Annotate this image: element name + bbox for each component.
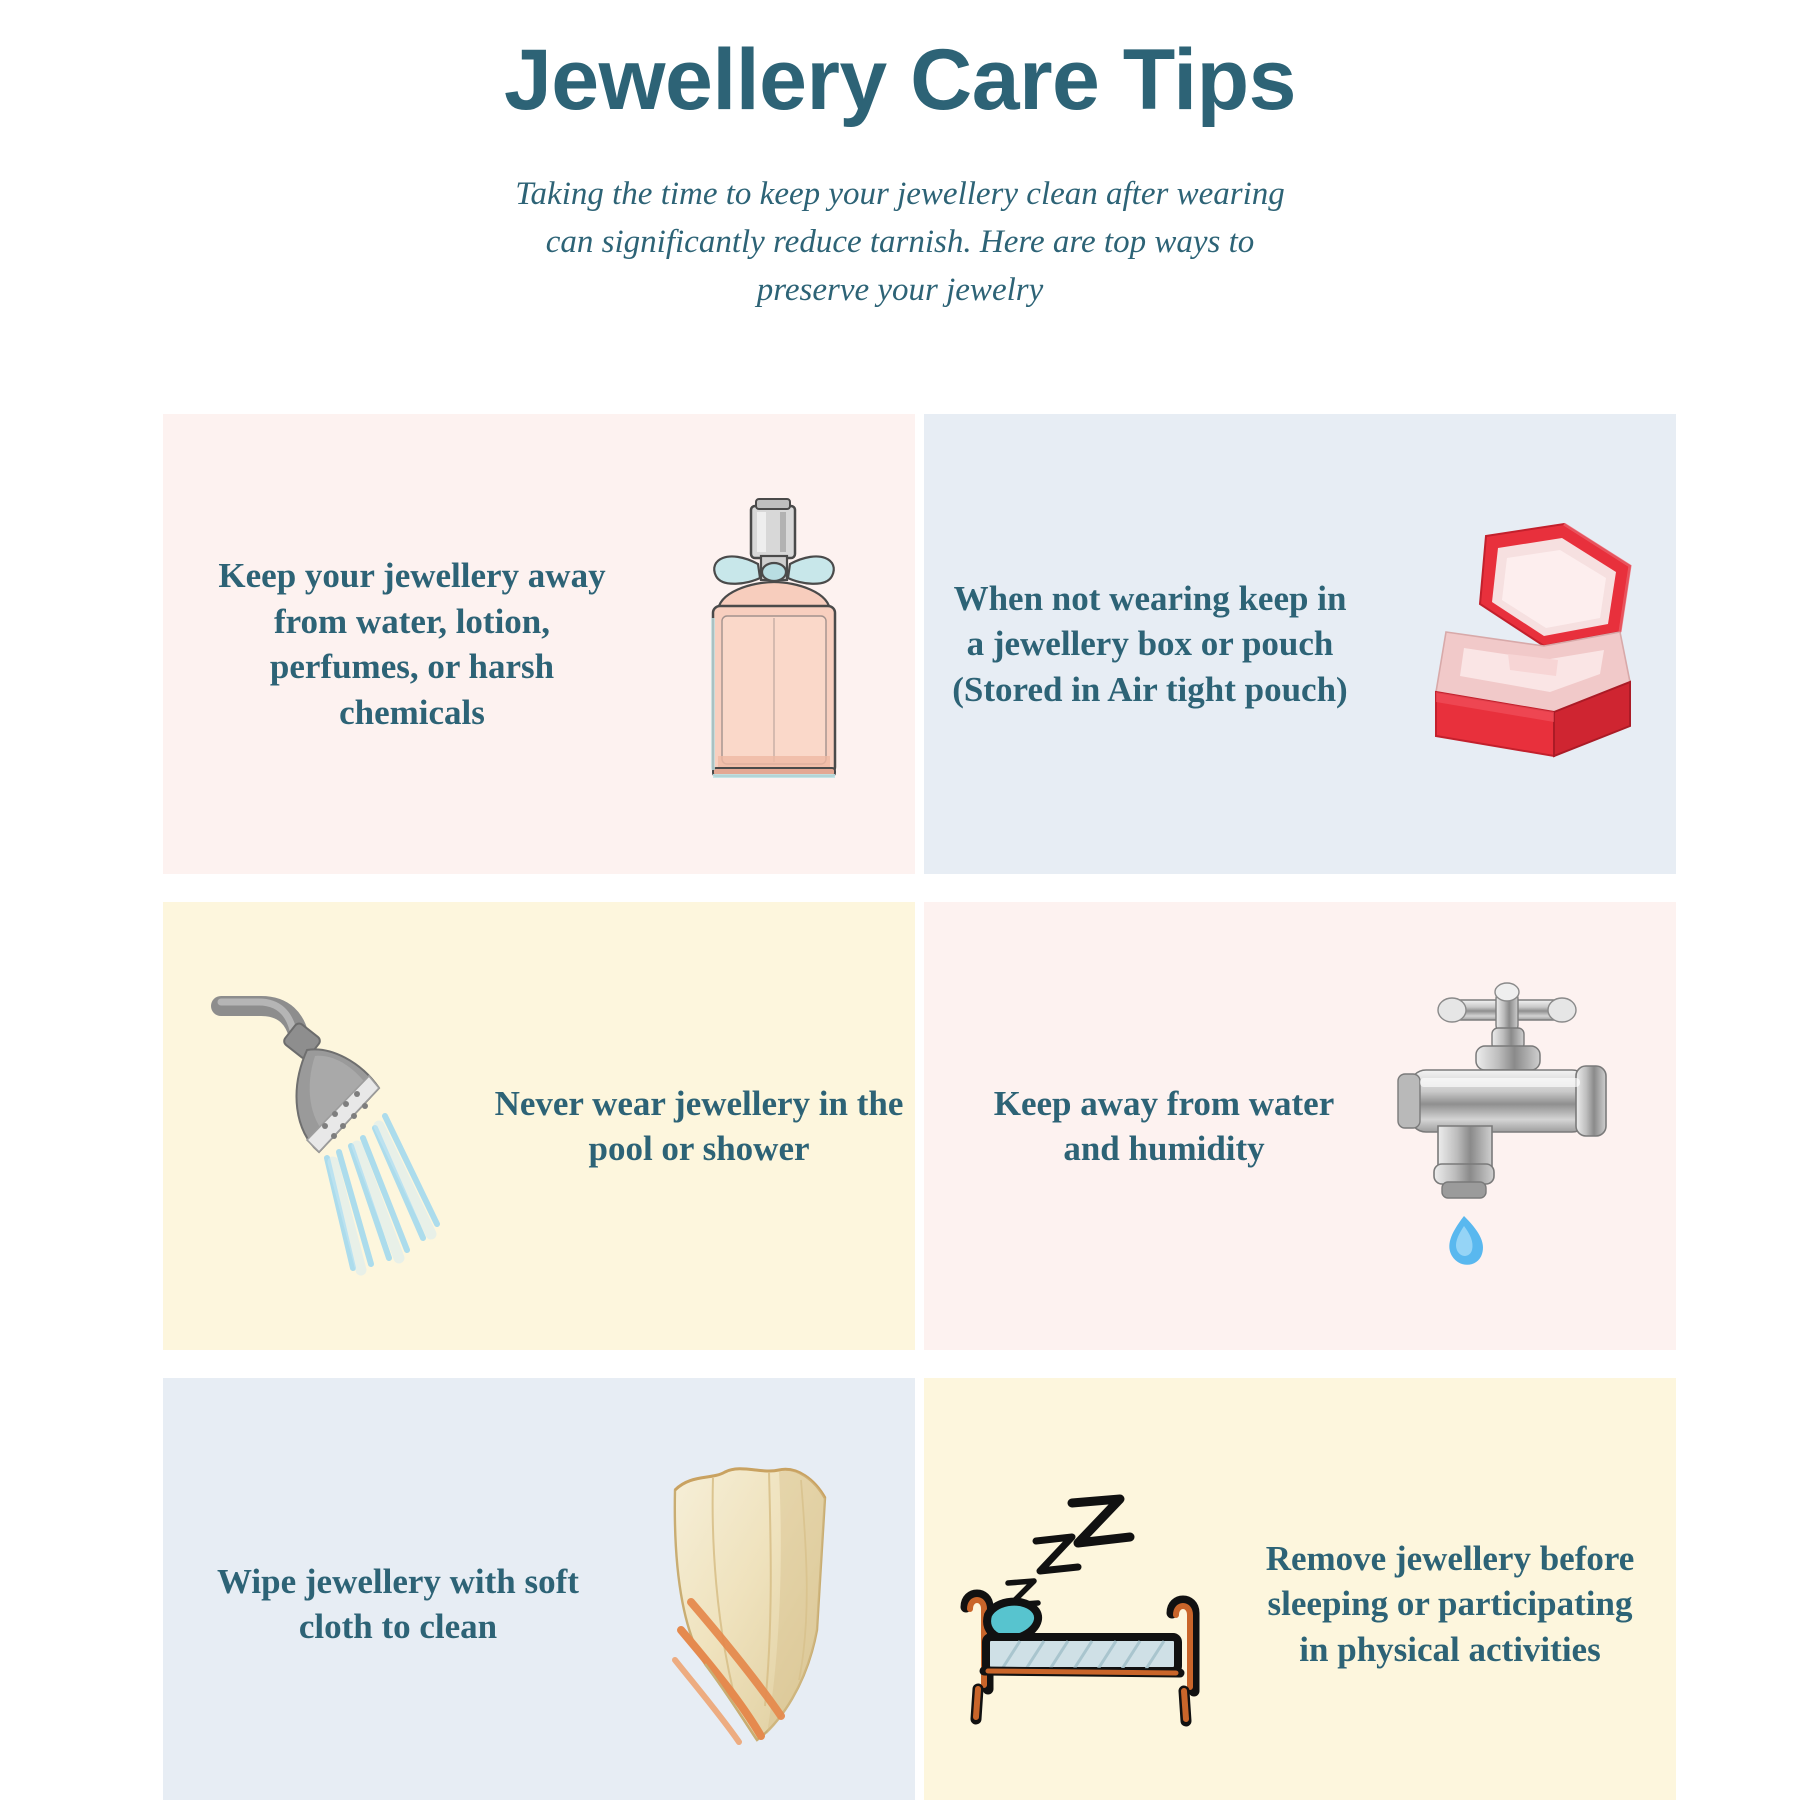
header: Jewellery Care Tips Taking the time to k… [0,0,1800,314]
perfume-bottle-icon [627,494,915,794]
tip-card-4: Keep away from water and humidity [924,902,1676,1350]
tip-card-5-text: Wipe jewellery with soft cloth to clean [193,1559,603,1650]
tip-card-6: Remove jewellery before sleeping or part… [924,1378,1676,1800]
page-subtitle: Taking the time to keep your jewellery c… [505,171,1295,315]
infographic-page: Jewellery Care Tips Taking the time to k… [0,0,1800,1800]
tip-card-6-text: Remove jewellery before sleeping or part… [1254,1536,1646,1673]
tip-card-4-text: Keep away from water and humidity [964,1081,1364,1172]
tip-card-1: Keep your jewellery away from water, lot… [163,414,915,874]
tip-card-3-text: Never wear jewellery in the pool or show… [493,1081,905,1172]
tip-card-2: When not wearing keep in a jewellery box… [924,414,1676,874]
ring-box-icon [1350,514,1676,774]
tip-card-3: Never wear jewellery in the pool or show… [163,902,915,1350]
tip-card-5: Wipe jewellery with soft cloth to clean [163,1378,915,1800]
faucet-drip-icon [1364,976,1676,1276]
soft-cloth-icon [603,1454,915,1754]
tip-card-2-text: When not wearing keep in a jewellery box… [950,576,1350,713]
tip-card-1-text: Keep your jewellery away from water, lot… [197,553,627,735]
bed-sleeping-icon [924,1479,1254,1729]
tips-grid: Keep your jewellery away from water, lot… [163,414,1663,1800]
shower-head-icon [163,976,493,1276]
page-title: Jewellery Care Tips [0,34,1800,127]
